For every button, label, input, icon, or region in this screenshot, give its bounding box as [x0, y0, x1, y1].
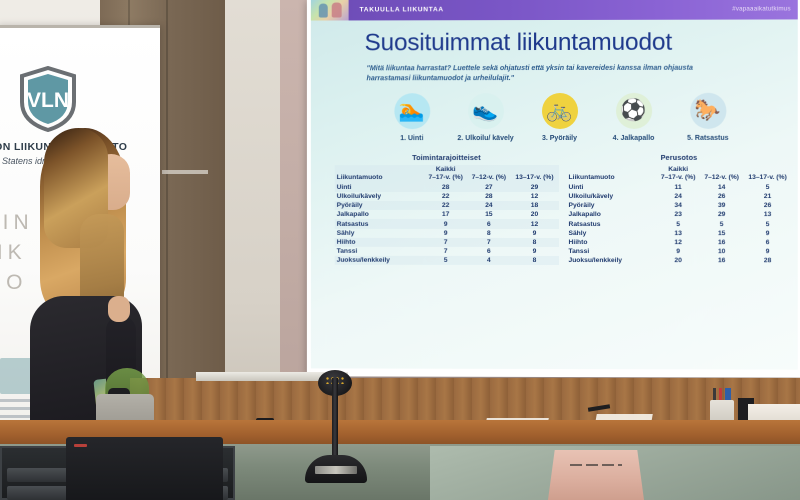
cell-young: 6 [467, 247, 510, 256]
col-kaikki: Kaikki 7–17-v. (%) [656, 164, 699, 182]
table-row: Tanssi769 [335, 247, 559, 256]
cell-young: 15 [467, 210, 510, 219]
cell-all: 11 [656, 183, 699, 192]
cell-old: 5 [743, 183, 791, 192]
cell-all: 7 [424, 247, 467, 256]
row-label: Uinti [335, 183, 424, 192]
walking-shoe-icon: 👟 [468, 93, 504, 129]
table-head: Liikuntamuoto Kaikki 7–17-v. (%) 7–12-v.… [567, 164, 792, 182]
row-label: Uinti [567, 183, 657, 192]
col-kaikki: Kaikki 7–17-v. (%) [424, 165, 467, 183]
slide-topbar: TAKUULLA LIIKUNTAA #vapaaaikatutkimus [311, 0, 798, 21]
cell-old: 29 [510, 183, 558, 192]
statistics-tables: Toimintarajoitteiset Liikuntamuoto Kaikk… [335, 152, 792, 265]
table-toimintarajoitteiset: Liikuntamuoto Kaikki 7–17-v. (%) 7–12-v.… [335, 164, 559, 265]
table-header-row: Liikuntamuoto Kaikki 7–17-v. (%) 7–12-v.… [567, 164, 792, 182]
table-header-row: Liikuntamuoto Kaikki 7–17-v. (%) 7–12-v.… [335, 164, 559, 182]
table-row: Jalkapallo232913 [567, 210, 792, 219]
col-kaikki-group: Kaikki [424, 166, 467, 174]
row-label: Jalkapallo [567, 210, 657, 219]
projection-screen: TAKUULLA LIIKUNTAA #vapaaaikatutkimus Su… [307, 0, 800, 378]
table-row: Sähly989 [335, 229, 559, 238]
table-row: Juoksu/lenkkeily201628 [567, 256, 792, 265]
row-label: Sähly [567, 229, 657, 238]
cell-old: 9 [510, 229, 558, 238]
col-kaikki-range: 7–17-v. (%) [428, 174, 462, 181]
lower-wood-wall [130, 378, 800, 424]
row-label: Hiihto [567, 238, 657, 247]
table-row: Pyöräily343926 [567, 201, 792, 210]
sport-icon-label: 4. Jalkapallo [604, 133, 664, 142]
cell-old: 8 [510, 256, 558, 265]
cell-all: 5 [656, 219, 699, 228]
cell-young: 4 [467, 256, 510, 265]
monitor-vent [570, 464, 622, 466]
sport-icon-label: 1. Uinti [382, 134, 442, 143]
bicycle-icon: 🚲 [542, 92, 578, 128]
cell-all: 13 [656, 229, 699, 238]
door-handle [162, 170, 208, 174]
row-label: Ulkoilu/kävely [567, 192, 657, 201]
cell-old: 5 [743, 220, 791, 229]
microphone-stand [332, 378, 338, 464]
table-row: Hiihto12166 [567, 238, 792, 247]
table-row: Hiihto778 [335, 238, 559, 247]
cell-young: 16 [700, 256, 744, 265]
table-row: Jalkapallo171520 [335, 210, 559, 219]
sport-icon-label: 2. Ulkoilu/ kävely [456, 134, 516, 143]
cell-old: 6 [743, 238, 791, 247]
col-7-12: 7–12-v. (%) [467, 165, 510, 183]
cell-young: 14 [700, 183, 744, 192]
row-label: Ulkoilu/kävely [335, 192, 424, 201]
table-body: Uinti282729 Ulkoilu/kävely222812 Pyöräil… [335, 183, 559, 266]
row-label: Ratsastus [335, 219, 424, 228]
cell-all: 23 [656, 210, 699, 219]
cell-young: 26 [700, 192, 744, 201]
row-label: Sähly [335, 229, 424, 238]
walking-shoe-glyph: 👟 [468, 93, 504, 129]
cell-all: 9 [424, 229, 467, 238]
soccer-ball-glyph: ⚽ [616, 92, 652, 128]
col-7-12: 7–12-v. (%) [700, 164, 744, 182]
cell-old: 26 [743, 201, 791, 210]
table-row: Uinti11145 [567, 183, 792, 192]
monitor-back [548, 450, 644, 500]
slide-brand-label: TAKUULLA LIIKUNTAA [360, 6, 444, 13]
cell-old: 13 [743, 210, 791, 219]
row-label: Hiihto [335, 238, 424, 247]
cell-all: 12 [656, 238, 699, 247]
cell-young: 16 [700, 238, 744, 247]
col-liikuntamuoto: Liikuntamuoto [335, 165, 424, 183]
cell-all: 5 [424, 256, 467, 265]
svg-text:VLN: VLN [27, 89, 69, 112]
table-row: Uinti282729 [335, 183, 559, 192]
sport-icon-item: 🐎 5. Ratsastus [678, 92, 738, 142]
table-row: Sähly13159 [567, 229, 792, 238]
cell-all: 28 [424, 183, 467, 192]
cell-young: 28 [467, 192, 510, 201]
table-toimintarajoitteiset-wrap: Toimintarajoitteiset Liikuntamuoto Kaikk… [335, 152, 559, 265]
col-liikuntamuoto: Liikuntamuoto [567, 164, 657, 182]
table-head: Liikuntamuoto Kaikki 7–17-v. (%) 7–12-v.… [335, 164, 559, 182]
table-row: Pyöräily222418 [335, 201, 559, 210]
sport-icon-item: 🏊 1. Uinti [382, 93, 442, 143]
table-row: Ratsastus555 [567, 219, 792, 228]
cell-old: 28 [743, 256, 791, 265]
swimming-glyph: 🏊 [394, 93, 430, 129]
cell-all: 9 [424, 219, 467, 228]
table-body: Uinti11145 Ulkoilu/kävely242621 Pyöräily… [567, 183, 792, 266]
slide-hashtag: #vapaaaikatutkimus [732, 5, 791, 12]
presentation-slide: TAKUULLA LIIKUNTAA #vapaaaikatutkimus Su… [311, 0, 798, 370]
sport-icon-item: 👟 2. Ulkoilu/ kävely [456, 93, 516, 143]
cell-all: 34 [656, 201, 699, 210]
sport-icon-item: ⚽ 4. Jalkapallo [604, 92, 664, 142]
cell-all: 22 [424, 201, 467, 210]
cell-old: 9 [510, 247, 558, 256]
cell-old: 8 [510, 238, 558, 247]
cell-young: 27 [467, 183, 510, 192]
microphone-nameplate [315, 466, 357, 474]
cell-old: 21 [743, 192, 791, 201]
cell-young: 10 [700, 247, 744, 256]
cell-old: 9 [743, 229, 791, 238]
vln-shield-logo: VLN [18, 66, 78, 132]
table-row: Ulkoilu/kävely242621 [567, 192, 792, 201]
conference-room-scene: VLN TION LIIKUNTANEUVOSTO Statens idrott… [0, 0, 800, 500]
presenter-hand [108, 296, 130, 322]
cell-all: 22 [424, 192, 467, 201]
sport-icon-label: 3. Pyöräily [530, 133, 590, 142]
cell-young: 29 [700, 210, 744, 219]
bicycle-glyph: 🚲 [542, 92, 578, 128]
cell-young: 39 [700, 201, 744, 210]
col-kaikki-range: 7–17-v. (%) [661, 174, 696, 181]
sport-icon-row: 🏊 1. Uinti 👟 2. Ulkoilu/ kävely 🚲 3. Pyö… [323, 92, 798, 142]
slide-title: Suosituimmat liikuntamuodot [365, 30, 798, 55]
row-label: Juoksu/lenkkeily [335, 256, 424, 265]
cell-old: 12 [510, 192, 558, 201]
table-title: Toimintarajoitteiset [335, 152, 559, 161]
table-row: Juoksu/lenkkeily548 [335, 256, 559, 265]
table-row: Ulkoilu/kävely222812 [335, 192, 559, 201]
cell-young: 24 [467, 201, 510, 210]
laptop-logo [74, 444, 87, 447]
cell-all: 9 [656, 247, 699, 256]
cell-young: 5 [700, 220, 744, 229]
row-label: Tanssi [335, 247, 424, 256]
sport-icon-label: 5. Ratsastus [678, 133, 738, 142]
table-row: Tanssi9109 [567, 247, 792, 256]
slide-subtitle: "Mitä liikuntaa harrastat? Luettele sekä… [367, 62, 717, 84]
swimming-icon: 🏊 [394, 93, 430, 129]
table-perusotos: Liikuntamuoto Kaikki 7–17-v. (%) 7–12-v.… [567, 164, 792, 265]
row-label: Ratsastus [567, 219, 657, 228]
slide-thumbnail-image [311, 0, 349, 21]
cell-all: 20 [656, 256, 699, 265]
laptop[interactable] [66, 437, 223, 500]
col-13-17: 13–17-v. (%) [510, 164, 558, 182]
row-label: Juoksu/lenkkeily [567, 256, 657, 265]
cell-old: 20 [510, 210, 558, 219]
row-label: Tanssi [567, 247, 657, 256]
cell-young: 15 [700, 229, 744, 238]
sport-icon-item: 🚲 3. Pyöräily [530, 92, 590, 142]
row-label: Pyöräily [567, 201, 657, 210]
col-kaikki-group: Kaikki [656, 166, 699, 174]
cell-old: 9 [743, 247, 791, 256]
cell-old: 12 [510, 219, 558, 228]
soccer-ball-icon: ⚽ [616, 92, 652, 128]
table-perusotos-wrap: Perusotos Liikuntamuoto Kaikki 7–17-v. (… [567, 152, 792, 265]
cell-all: 17 [424, 210, 467, 219]
table-row: Ratsastus9612 [335, 219, 559, 228]
cell-young: 6 [467, 219, 510, 228]
cell-old: 18 [510, 201, 558, 210]
row-label: Jalkapallo [335, 210, 424, 219]
row-label: Pyöräily [335, 201, 424, 210]
cell-young: 7 [467, 238, 510, 247]
table-title: Perusotos [567, 152, 792, 161]
horse-icon: 🐎 [690, 92, 726, 128]
horse-glyph: 🐎 [690, 92, 726, 128]
cell-young: 8 [467, 229, 510, 238]
cell-all: 7 [424, 238, 467, 247]
col-13-17: 13–17-v. (%) [743, 164, 791, 182]
cell-all: 24 [656, 192, 699, 201]
